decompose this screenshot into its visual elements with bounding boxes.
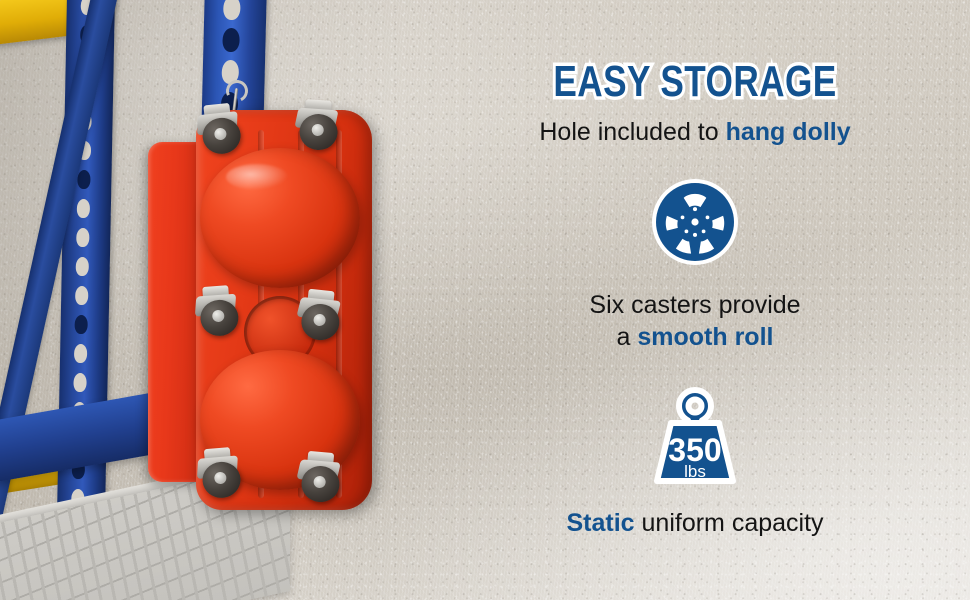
product-photo <box>0 0 420 600</box>
feature-2-text: a <box>617 323 638 351</box>
rack-keyhole-slot <box>74 373 87 392</box>
yellow-rack-beam-top <box>0 0 74 45</box>
rack-keyhole-slot <box>223 0 241 20</box>
swivel-caster <box>289 287 350 345</box>
feature-2-line1: Six casters provide <box>589 289 800 321</box>
rack-keyhole-slot <box>77 199 90 218</box>
dolly-dome-highlight <box>226 164 288 190</box>
product-feature-banner: EASY STORAGE Hole included to hang dolly <box>0 0 970 600</box>
feature-3-caption: Static uniform capacity <box>566 509 823 538</box>
feature-1-text: Hole included to <box>539 118 725 146</box>
rack-keyhole-slot <box>74 344 87 363</box>
feature-3-text: uniform capacity <box>635 509 824 537</box>
feature-1-accent: hang dolly <box>726 118 851 146</box>
rack-keyhole-slot <box>222 28 240 52</box>
rack-keyhole-slot <box>75 315 88 334</box>
rack-keyhole-slot <box>77 228 90 247</box>
rack-keyhole-slot <box>78 170 91 189</box>
caster-wheel-icon <box>656 183 734 261</box>
swivel-caster <box>189 101 250 159</box>
feature-list: EASY STORAGE Hole included to hang dolly <box>420 0 970 600</box>
weight-unit: lbs <box>684 462 706 481</box>
red-dolly <box>140 100 390 520</box>
page-title: EASY STORAGE <box>553 60 836 104</box>
swivel-caster <box>190 446 250 503</box>
swivel-caster <box>188 284 247 340</box>
feature-1-caption: Hole included to hang dolly <box>539 118 850 147</box>
feature-2-accent: smooth roll <box>637 323 773 351</box>
feature-2-caption: Six casters provide a smooth roll <box>589 289 800 353</box>
feature-2-line2: a smooth roll <box>589 321 800 353</box>
feature-3-accent: Static <box>566 509 634 537</box>
swivel-caster <box>288 98 347 154</box>
swivel-caster <box>290 450 350 507</box>
weight-icon: 350 lbs <box>641 387 749 487</box>
rack-keyhole-slot <box>75 286 88 305</box>
rack-keyhole-slot <box>76 257 89 276</box>
